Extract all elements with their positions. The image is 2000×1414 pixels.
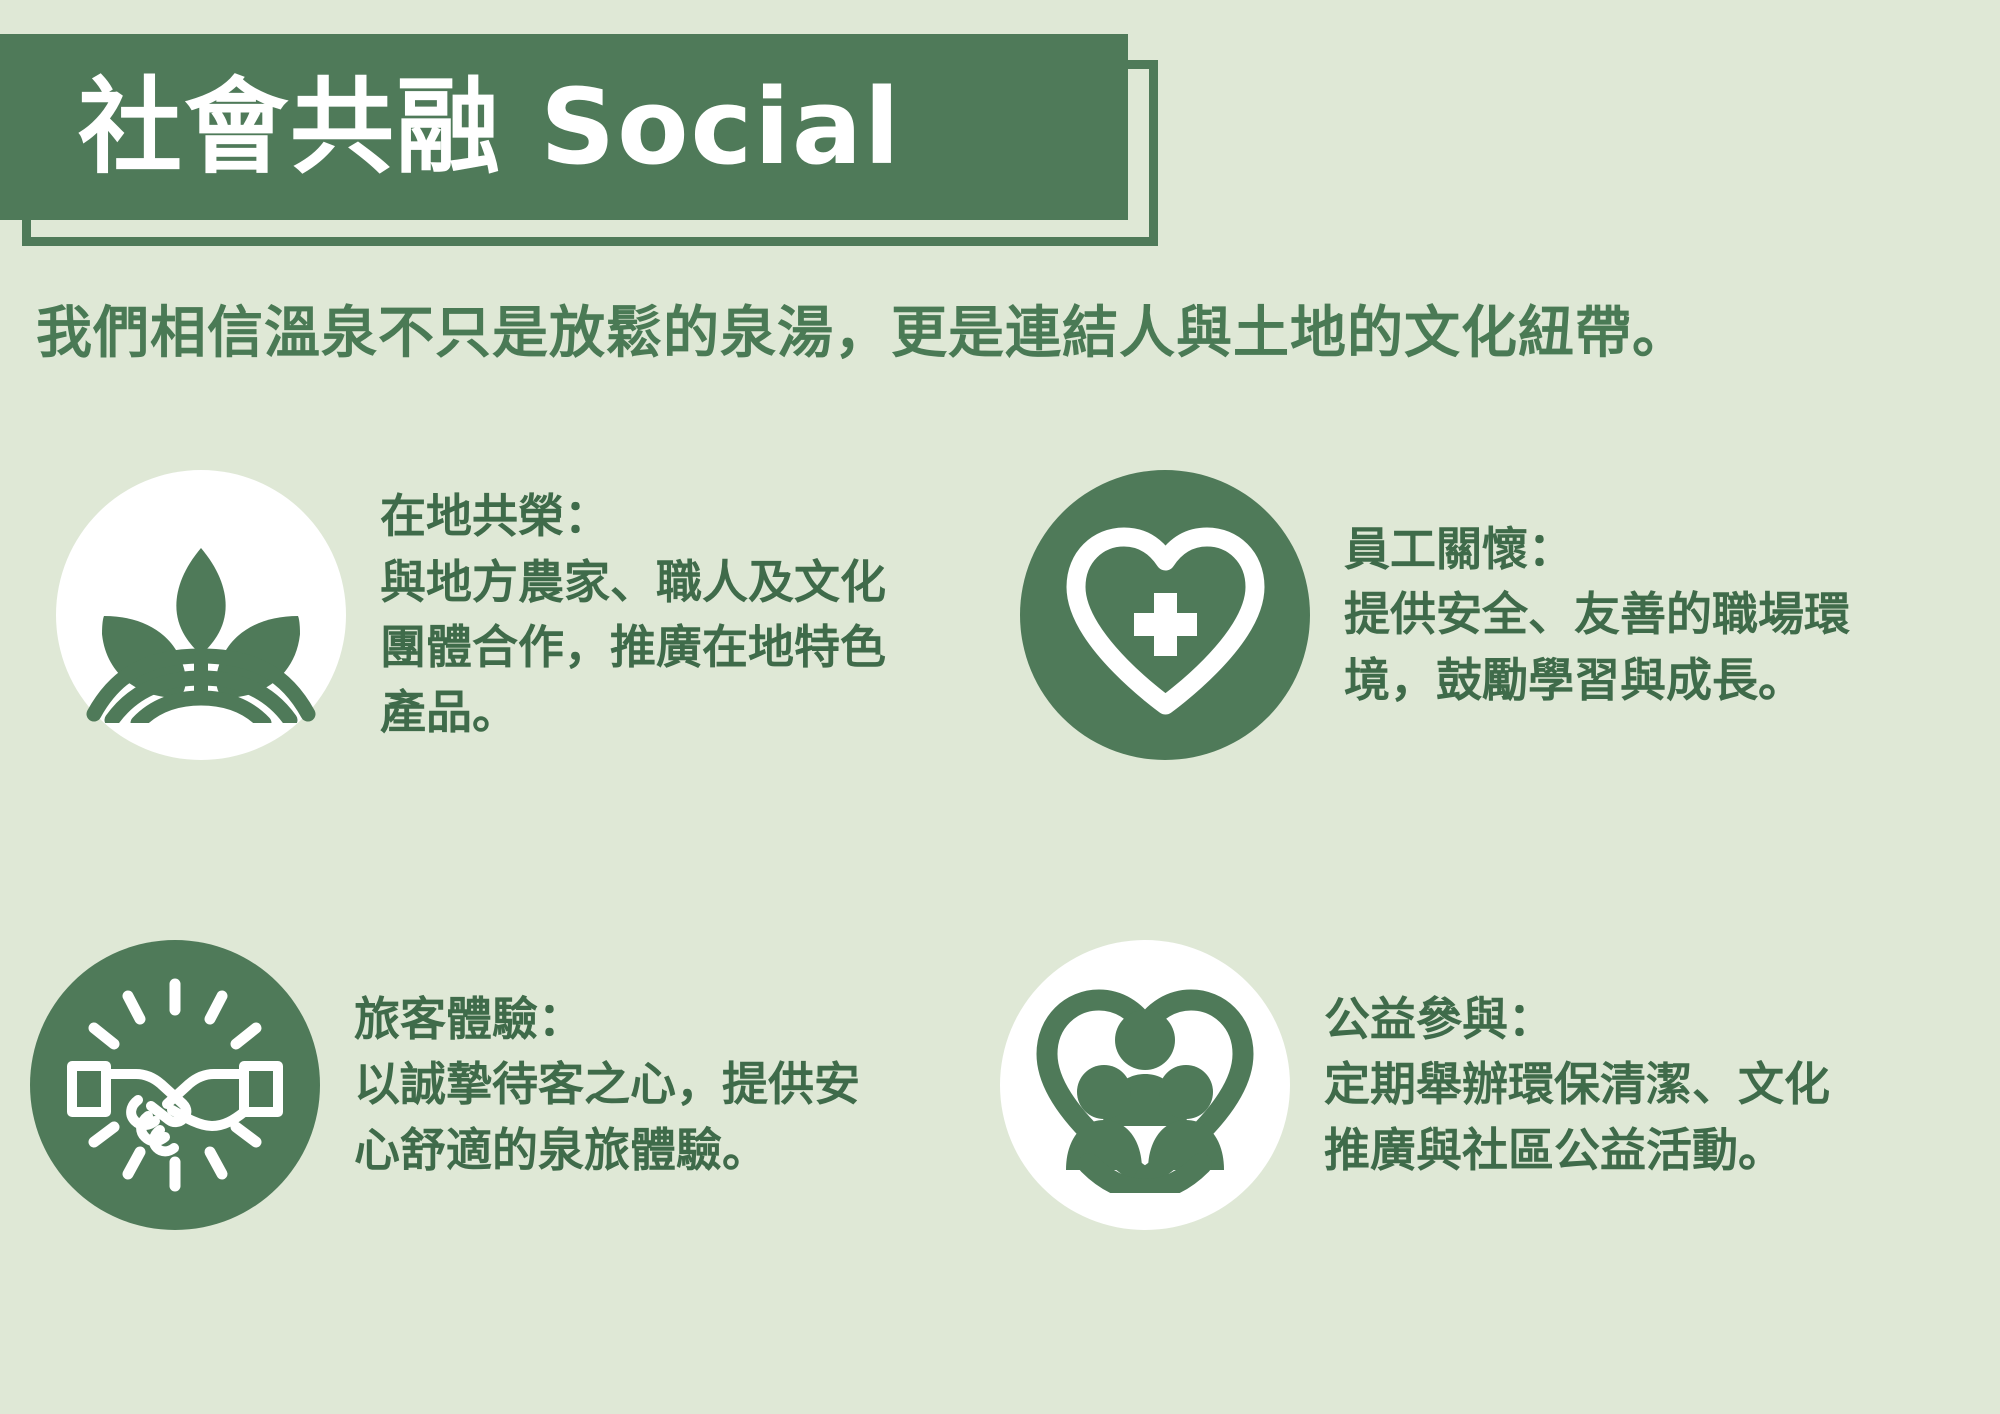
card-body: 與地方農家、職人及文化團體合作，推廣在地特色產品。 <box>380 550 910 746</box>
family-heart-icon <box>1000 940 1290 1230</box>
header-fill-box: 社會共融 Social <box>0 34 1128 220</box>
sprout-field-icon <box>56 470 346 760</box>
card-body: 提供安全、友善的職場環境，鼓勵學習與成長。 <box>1344 582 1874 713</box>
card-heading: 旅客體驗： <box>354 987 884 1052</box>
cards-grid: 在地共榮： 與地方農家、職人及文化團體合作，推廣在地特色產品。 員工關懷： 提供… <box>0 460 2000 1410</box>
card-body: 定期舉辦環保清潔、文化推廣與社區公益活動。 <box>1324 1052 1854 1183</box>
card-heading: 在地共榮： <box>380 484 910 549</box>
card-body: 以誠摯待客之心，提供安心舒適的泉旅體驗。 <box>354 1052 884 1183</box>
card-text-block: 員工關懷： 提供安全、友善的職場環境，鼓勵學習與成長。 <box>1344 517 1874 713</box>
page-title: 社會共融 Social <box>78 75 902 179</box>
heart-cross-icon <box>1020 470 1310 760</box>
card-text-block: 在地共榮： 與地方農家、職人及文化團體合作，推廣在地特色產品。 <box>380 484 910 745</box>
card-employee-care: 員工關懷： 提供安全、友善的職場環境，鼓勵學習與成長。 <box>1020 470 1874 760</box>
card-community-service: 公益參與： 定期舉辦環保清潔、文化推廣與社區公益活動。 <box>1000 940 1854 1230</box>
card-guest-experience: 旅客體驗： 以誠摯待客之心，提供安心舒適的泉旅體驗。 <box>30 940 884 1230</box>
card-local-prosperity: 在地共榮： 與地方農家、職人及文化團體合作，推廣在地特色產品。 <box>56 470 910 760</box>
handshake-icon <box>30 940 320 1230</box>
card-text-block: 公益參與： 定期舉辦環保清潔、文化推廣與社區公益活動。 <box>1324 987 1854 1183</box>
subtitle-text: 我們相信溫泉不只是放鬆的泉湯，更是連結人與土地的文化紐帶。 <box>36 288 1689 369</box>
header-banner: 社會共融 Social <box>0 34 1160 248</box>
card-heading: 員工關懷： <box>1344 517 1874 582</box>
card-heading: 公益參與： <box>1324 987 1854 1052</box>
card-text-block: 旅客體驗： 以誠摯待客之心，提供安心舒適的泉旅體驗。 <box>354 987 884 1183</box>
